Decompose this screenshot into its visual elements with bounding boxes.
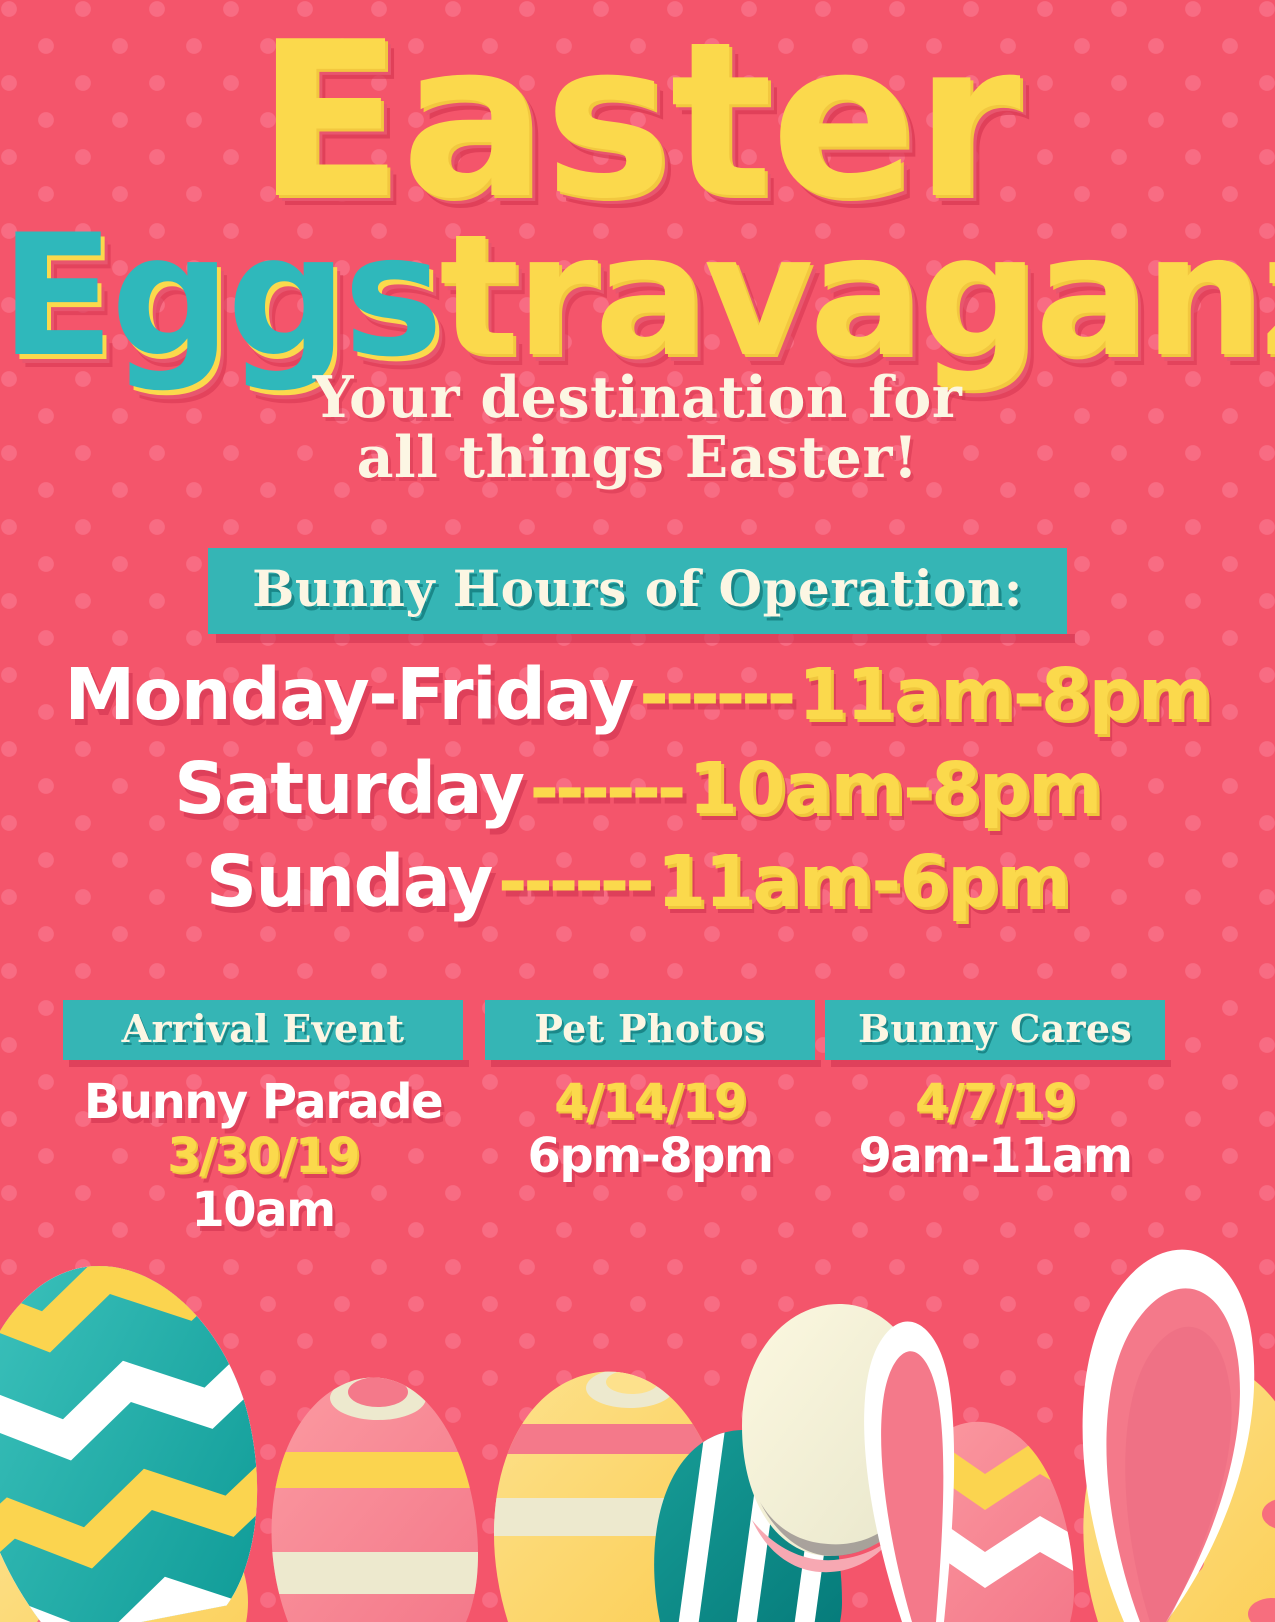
title-easter: Easter — [0, 0, 1275, 220]
hours-time-value: 10am-8pm — [688, 742, 1100, 836]
poster-subtitle: Your destination for all things Easter! — [0, 368, 1275, 489]
event-name: Bunny Parade — [63, 1076, 463, 1130]
hours-day-label: Saturday — [174, 742, 523, 836]
pink-striped-egg — [250, 1376, 520, 1622]
hours-banner-label: Bunny Hours of Operation: — [252, 559, 1023, 618]
poster-title-block: Easter Eggstravaganza — [0, 0, 1275, 352]
hours-row: Monday-Friday ------ 11am-8pm — [0, 648, 1275, 742]
hours-row: Saturday ------ 10am-8pm — [0, 742, 1275, 836]
hours-dash-separator: ------ — [633, 648, 798, 742]
hours-day-label: Sunday — [206, 835, 492, 929]
event-time: 6pm-8pm — [485, 1130, 815, 1184]
hours-banner: Bunny Hours of Operation: — [208, 548, 1067, 634]
hours-banner-wrapper: Bunny Hours of Operation: — [0, 548, 1275, 634]
subtitle-line-2: all things Easter! — [0, 428, 1275, 488]
event-date: 3/30/19 — [63, 1130, 463, 1184]
event-column-pet-photos: Pet Photos 4/14/19 6pm-8pm — [485, 1000, 815, 1184]
event-details: 4/7/19 9am-11am — [825, 1076, 1165, 1184]
event-time: 9am-11am — [825, 1130, 1165, 1184]
title-eggstravaganza: Eggstravaganza — [0, 212, 1275, 352]
event-banner-label: Pet Photos — [534, 1006, 765, 1051]
easter-flyer-poster: Easter Eggstravaganza Your destination f… — [0, 0, 1275, 1622]
hours-time-value: 11am-8pm — [798, 648, 1210, 742]
hours-row: Sunday ------ 11am-6pm — [0, 835, 1275, 929]
event-details: 4/14/19 6pm-8pm — [485, 1076, 815, 1184]
event-date: 4/14/19 — [485, 1076, 815, 1130]
hours-dash-separator: ------ — [492, 835, 657, 929]
hours-dash-separator: ------ — [524, 742, 689, 836]
event-banner-label: Arrival Event — [122, 1006, 405, 1051]
event-date: 4/7/19 — [825, 1076, 1165, 1130]
hours-list: Monday-Friday ------ 11am-8pm Saturday -… — [0, 648, 1275, 929]
event-banner-label: Bunny Cares — [858, 1006, 1132, 1051]
event-banner: Pet Photos — [485, 1000, 815, 1060]
hours-time-value: 11am-6pm — [657, 835, 1069, 929]
event-banner: Arrival Event — [63, 1000, 463, 1060]
event-banner: Bunny Cares — [825, 1000, 1165, 1060]
hours-day-label: Monday-Friday — [64, 648, 633, 742]
easter-eggs-illustration — [0, 1202, 1275, 1622]
subtitle-line-1: Your destination for — [0, 368, 1275, 428]
event-column-bunny-cares: Bunny Cares 4/7/19 9am-11am — [825, 1000, 1165, 1184]
